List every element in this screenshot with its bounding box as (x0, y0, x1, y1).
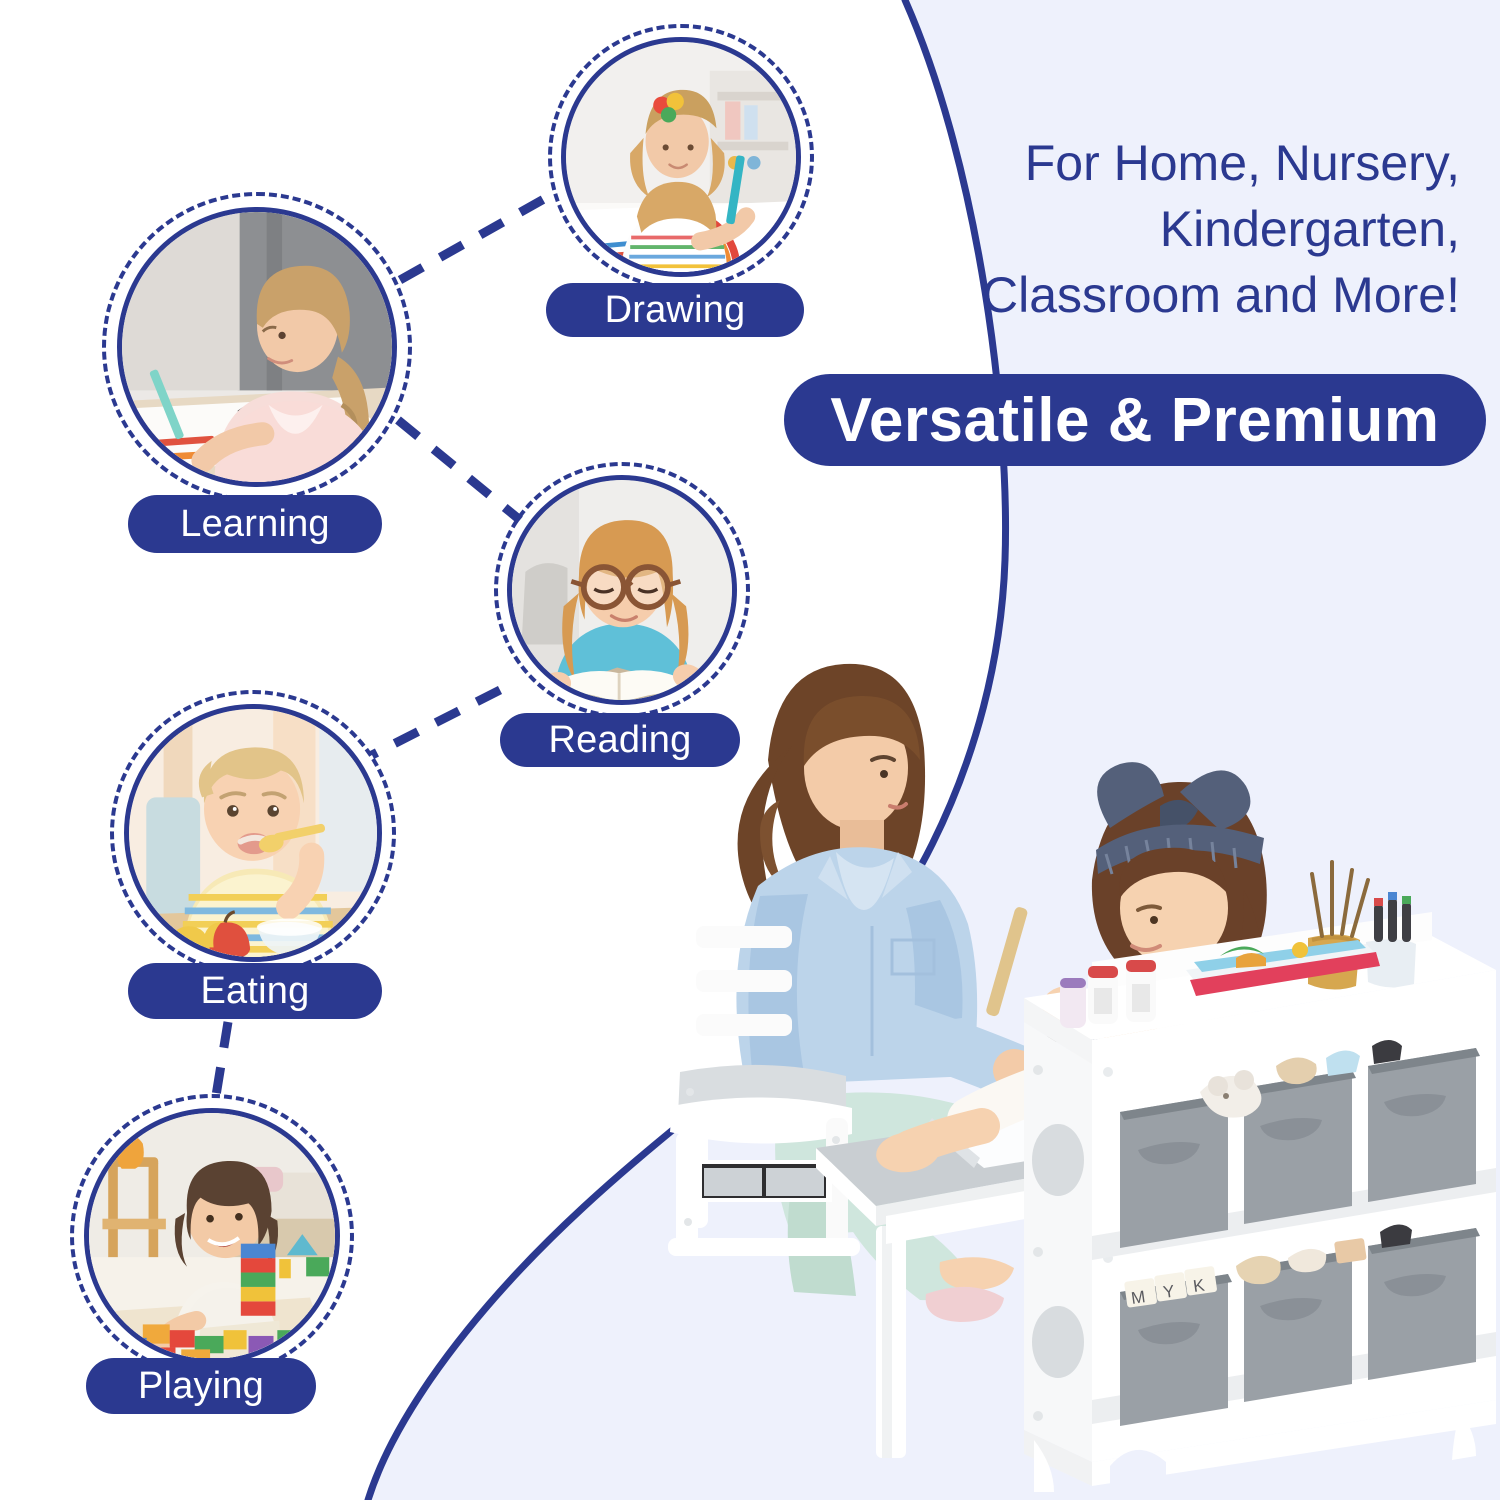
headline-line-3: Classroom and More! (760, 262, 1460, 328)
photo-ring-eating (124, 704, 382, 962)
headline-line-1: For Home, Nursery, (760, 130, 1460, 196)
versatile-premium-badge[interactable]: Versatile & Premium (784, 374, 1486, 466)
feature-label-playing-text: Playing (138, 1365, 264, 1408)
hero-product-photo: M Y K (640, 640, 1500, 1500)
feature-label-learning[interactable]: Learning (128, 495, 382, 553)
feature-circle-learning[interactable] (102, 192, 412, 502)
photo-ring-learning (117, 207, 397, 487)
infographic-canvas: Drawing (0, 0, 1500, 1500)
feature-circle-eating[interactable] (110, 690, 396, 976)
feature-label-learning-text: Learning (180, 503, 330, 546)
storage-organizer: M Y K (1024, 862, 1496, 1492)
feature-circle-playing[interactable] (70, 1094, 354, 1378)
photo-playing (89, 1113, 335, 1359)
photo-eating (129, 709, 377, 957)
feature-label-eating-text: Eating (201, 970, 310, 1013)
photo-learning (122, 212, 392, 482)
photo-ring-playing (84, 1108, 340, 1364)
versatile-premium-badge-text: Versatile & Premium (830, 385, 1439, 456)
feature-label-playing[interactable]: Playing (86, 1358, 316, 1414)
feature-label-drawing-text: Drawing (605, 289, 746, 332)
headline: For Home, Nursery, Kindergarten, Classro… (760, 130, 1460, 328)
svg-text:M: M (1130, 1287, 1147, 1308)
connector-learning-drawing (400, 190, 560, 280)
headline-line-2: Kindergarten, (760, 196, 1460, 262)
feature-label-eating[interactable]: Eating (128, 963, 382, 1019)
